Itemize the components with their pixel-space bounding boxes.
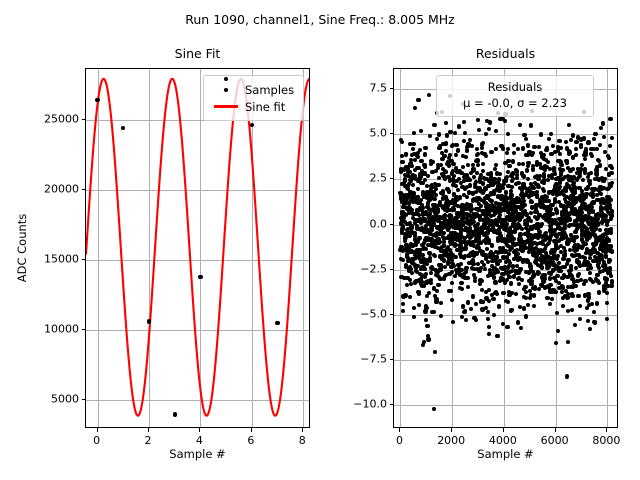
x-tick-mark [302,428,303,432]
residual-point [570,294,574,298]
residual-point [548,238,552,242]
residual-point [540,265,544,269]
residual-point [481,141,485,145]
residual-point [609,274,613,278]
residual-point [526,303,530,307]
residual-point [487,288,491,292]
residual-point [466,285,470,289]
residual-point [464,155,468,159]
residuals-plot-area: Residuals μ = -0.0, σ = 2.23 [393,68,618,428]
y-tick-label: 5000 [25,393,79,406]
residual-point [444,141,448,145]
residual-point [401,224,405,228]
y-tick-label: 10000 [25,323,79,336]
residual-point [412,306,416,310]
residual-point [486,317,490,321]
residual-point [542,189,546,193]
x-tick-label: 8 [299,434,306,447]
residual-point [445,133,449,137]
residual-point [508,164,512,168]
residual-outlier-point [416,98,420,102]
residual-point [587,295,591,299]
residual-point [607,239,611,243]
residual-point [474,302,478,306]
residual-point [532,304,536,308]
residual-point [488,120,492,124]
residual-point [592,137,596,141]
residual-point [512,151,516,155]
y-tick-mark [390,178,394,179]
residual-point [607,258,611,262]
residual-point [451,320,455,324]
residual-point [423,152,427,156]
residual-point [435,289,439,293]
residual-point [416,187,420,191]
residual-point [608,144,612,148]
y-tick-mark [82,259,86,260]
residual-point [475,147,479,151]
gridline-vertical [452,69,453,427]
residual-point [608,266,612,270]
residual-point [484,132,488,136]
residual-point [590,302,594,306]
residual-point [521,162,525,166]
x-tick-mark [97,428,98,432]
residual-point [582,136,586,140]
residual-point [452,174,456,178]
residual-point [553,290,557,294]
residual-point [511,237,515,241]
residual-point [547,137,551,141]
y-tick-label: 20000 [25,182,79,195]
residual-point [481,181,485,185]
residual-point [507,275,511,279]
x-tick-label: 2000 [437,434,465,447]
residual-point [549,132,553,136]
residual-point [556,329,560,333]
residual-point [605,317,609,321]
residual-point [460,287,464,291]
residual-point [468,178,472,182]
residual-point [498,213,502,217]
x-tick-mark [148,428,149,432]
residual-point [491,297,495,301]
residual-point [529,219,533,223]
residual-point [456,148,460,152]
residual-point [526,143,530,147]
residual-point [401,302,405,306]
residual-point [433,350,437,354]
y-tick-mark [390,88,394,89]
x-tick-label: 0 [93,434,100,447]
x-tick-mark [251,428,252,432]
residual-point [465,195,469,199]
gridline-horizontal [394,315,617,316]
residual-point [418,236,422,240]
residual-point [550,212,554,216]
residual-point [497,177,501,181]
residual-point [469,307,473,311]
residual-point [523,285,527,289]
y-tick-mark [390,269,394,270]
y-tick-mark [390,314,394,315]
residual-point [494,129,498,133]
residual-outlier-point [565,374,569,378]
residual-point [506,132,510,136]
y-tick-label: −2.5 [333,262,387,275]
residual-point [481,169,485,173]
residuals-x-axis-label: Sample # [393,447,618,461]
x-tick-mark [606,428,607,432]
y-tick-label: 0.0 [333,217,387,230]
residual-point [505,325,509,329]
residual-point [555,274,559,278]
sine-fit-plot-area: Samples Sine fit [85,68,310,428]
legend-stats-residuals: μ = -0.0, σ = 2.23 [443,95,587,111]
sine-legend: Samples Sine fit [203,75,304,121]
residual-point [465,148,469,152]
residual-point [524,137,528,141]
residual-point [423,178,427,182]
residual-point [598,228,602,232]
residual-point [464,266,468,270]
sample-point [147,319,151,323]
residual-point [504,190,508,194]
residual-point [509,193,513,197]
residual-point [593,132,597,136]
residual-point [546,160,550,164]
residual-point [503,119,507,123]
legend-row-samples: Samples [211,81,296,98]
residual-point [595,147,599,151]
residual-point [509,281,513,285]
residual-point [419,129,423,133]
residual-point [447,189,451,193]
residual-point [610,166,614,170]
residual-point [516,320,520,324]
residual-point [568,217,572,221]
y-tick-mark [82,189,86,190]
residual-point [506,300,510,304]
sine-fit-curve [86,69,310,428]
y-tick-label: 25000 [25,112,79,125]
x-tick-label: 6 [247,434,254,447]
residual-point [425,324,429,328]
residual-point [477,128,481,132]
residual-point [494,163,498,167]
residual-point [459,262,463,266]
residual-point [610,249,614,253]
residual-point [454,153,458,157]
y-tick-label: −10.0 [333,398,387,411]
residual-point [427,291,431,295]
y-tick-mark [82,329,86,330]
residual-point [424,272,428,276]
residual-point [517,282,521,286]
residual-point [604,277,608,281]
residual-outlier-point [432,407,436,411]
residual-point [610,181,614,185]
residual-point [400,160,404,164]
residual-point [462,120,466,124]
residual-point [558,146,562,150]
residual-point [567,123,571,127]
residual-point [461,165,465,169]
residual-point [481,300,485,304]
residual-point [553,172,557,176]
residual-point [429,271,433,275]
residuals-legend: Residuals μ = -0.0, σ = 2.23 [436,75,594,117]
residual-point [599,192,603,196]
residual-point [466,163,470,167]
residual-point [548,283,552,287]
residual-point [583,167,587,171]
residual-point [610,279,614,283]
residual-point [501,146,505,150]
sample-point [173,412,177,416]
residual-point [570,308,574,312]
residual-point [497,304,501,308]
residual-point [561,304,565,308]
residual-point [495,292,499,296]
residual-point [471,294,475,298]
x-tick-label: 2 [145,434,152,447]
residual-point [450,281,454,285]
residual-point [498,259,502,263]
x-tick-label: 0 [396,434,403,447]
residual-point [525,168,529,172]
residual-point [484,154,488,158]
residual-point [561,168,565,172]
residual-point [506,147,510,151]
residual-point [478,269,482,273]
residual-point [588,271,592,275]
gridline-horizontal [394,405,617,406]
residual-point [510,308,514,312]
residual-point [479,279,483,283]
residual-point [610,213,614,217]
residual-point [495,334,499,338]
residual-point [571,167,575,171]
residual-point [545,296,549,300]
y-tick-mark [390,224,394,225]
samples-marker-icon [211,88,241,92]
residual-point [494,147,498,151]
residual-point [490,243,494,247]
sine-y-axis-label: ADC Counts [15,214,29,283]
x-tick-mark [399,428,400,432]
residual-point [609,198,613,202]
y-tick-mark [390,359,394,360]
residual-point [597,281,601,285]
residual-point [605,301,609,305]
residual-point [601,121,605,125]
residual-point [532,293,536,297]
residual-point [610,209,614,213]
residual-point [578,304,582,308]
x-tick-label: 8000 [592,434,620,447]
residual-point [432,310,436,314]
residual-point [432,197,436,201]
residual-point [457,124,461,128]
residual-point [442,154,446,158]
residual-point [559,163,563,167]
residual-point [448,130,452,134]
residual-point [584,147,588,151]
residual-point [423,165,427,169]
residual-point [412,315,416,319]
residual-point [569,268,573,272]
residual-point [430,228,434,232]
residual-point [492,313,496,317]
residual-point [584,192,588,196]
residual-point [432,123,436,127]
residual-point [586,140,590,144]
residual-point [581,178,585,182]
legend-label-samples: Samples [241,83,294,97]
residual-point [476,118,480,122]
residual-point [542,276,546,280]
residual-point [543,273,547,277]
residual-point [518,123,522,127]
residual-point [434,297,438,301]
residual-point [400,140,404,144]
sample-point [198,275,202,279]
residual-point [550,297,554,301]
residual-point [516,147,520,151]
residual-point [481,162,485,166]
residual-point [456,188,460,192]
residual-point [574,140,578,144]
residual-point [448,153,452,157]
residual-point [427,93,431,97]
residual-point [498,172,502,176]
residual-point [539,132,543,136]
residual-point [576,294,580,298]
residual-point [486,310,490,314]
figure-suptitle: Run 1090, channel1, Sine Freq.: 8.005 MH… [0,12,640,27]
y-tick-mark [82,119,86,120]
residual-point [574,147,578,151]
residual-point [453,255,457,259]
residual-point [531,167,535,171]
residual-point [504,178,508,182]
residual-point [593,321,597,325]
residual-point [487,127,491,131]
residual-point [466,300,470,304]
residual-point [566,340,570,344]
residual-point [505,151,509,155]
residual-point [555,210,559,214]
sample-point [95,98,99,102]
line-swatch-icon [211,105,241,107]
residual-point [598,143,602,147]
residual-point [434,193,438,197]
residual-point [569,138,573,142]
residual-point [529,123,533,127]
residuals-panel-title: Residuals [393,46,618,61]
residual-point [441,231,445,235]
residual-point [558,152,562,156]
residual-point [588,182,592,186]
residual-point [529,200,533,204]
residual-point [537,145,541,149]
residual-point [477,234,481,238]
residual-point [463,309,467,313]
x-tick-mark [555,428,556,432]
residual-point [557,139,561,143]
residual-point [531,151,535,155]
residual-point [471,262,475,266]
residual-point [595,301,599,305]
x-tick-mark [199,428,200,432]
residual-point [584,242,588,246]
residual-point [526,161,530,165]
residual-point [598,163,602,167]
residual-point [573,284,577,288]
residual-point [592,310,596,314]
residual-point [522,203,526,207]
residual-point [565,161,569,165]
residual-point [431,160,435,164]
legend-row-sine-fit: Sine fit [211,98,296,115]
residual-point [411,183,415,187]
y-tick-mark [390,404,394,405]
x-tick-label: 4 [196,434,203,447]
residual-point [577,272,581,276]
y-tick-label: 5.0 [333,127,387,140]
residual-point [454,143,458,147]
residual-point [422,267,426,271]
residual-point [548,302,552,306]
residual-point [521,146,525,150]
residual-point [417,303,421,307]
y-tick-mark [390,133,394,134]
y-tick-mark [82,399,86,400]
residual-point [413,106,417,110]
residual-point [437,240,441,244]
gridline-horizontal [394,360,617,361]
residual-point [602,135,606,139]
residual-point [476,163,480,167]
residual-point [450,298,454,302]
residual-point [549,207,553,211]
residual-point [560,276,564,280]
residual-point [424,247,428,251]
figure-canvas: Run 1090, channel1, Sine Freq.: 8.005 MH… [0,0,640,480]
residual-point [426,174,430,178]
residual-point [531,186,535,190]
residual-point [565,295,569,299]
residual-point [435,137,439,141]
residual-point [571,133,575,137]
residual-point [584,153,588,157]
residual-point [557,261,561,265]
residual-point [597,159,601,163]
residual-point [551,144,555,148]
residual-point [566,258,570,262]
residual-point [532,145,536,149]
residual-point [556,254,560,258]
residual-point [583,157,587,161]
residual-point [554,341,558,345]
residual-point [437,132,441,136]
residual-point [607,156,611,160]
residual-point [610,136,614,140]
residual-point [597,290,601,294]
residual-point [524,296,528,300]
residual-point [436,210,440,214]
